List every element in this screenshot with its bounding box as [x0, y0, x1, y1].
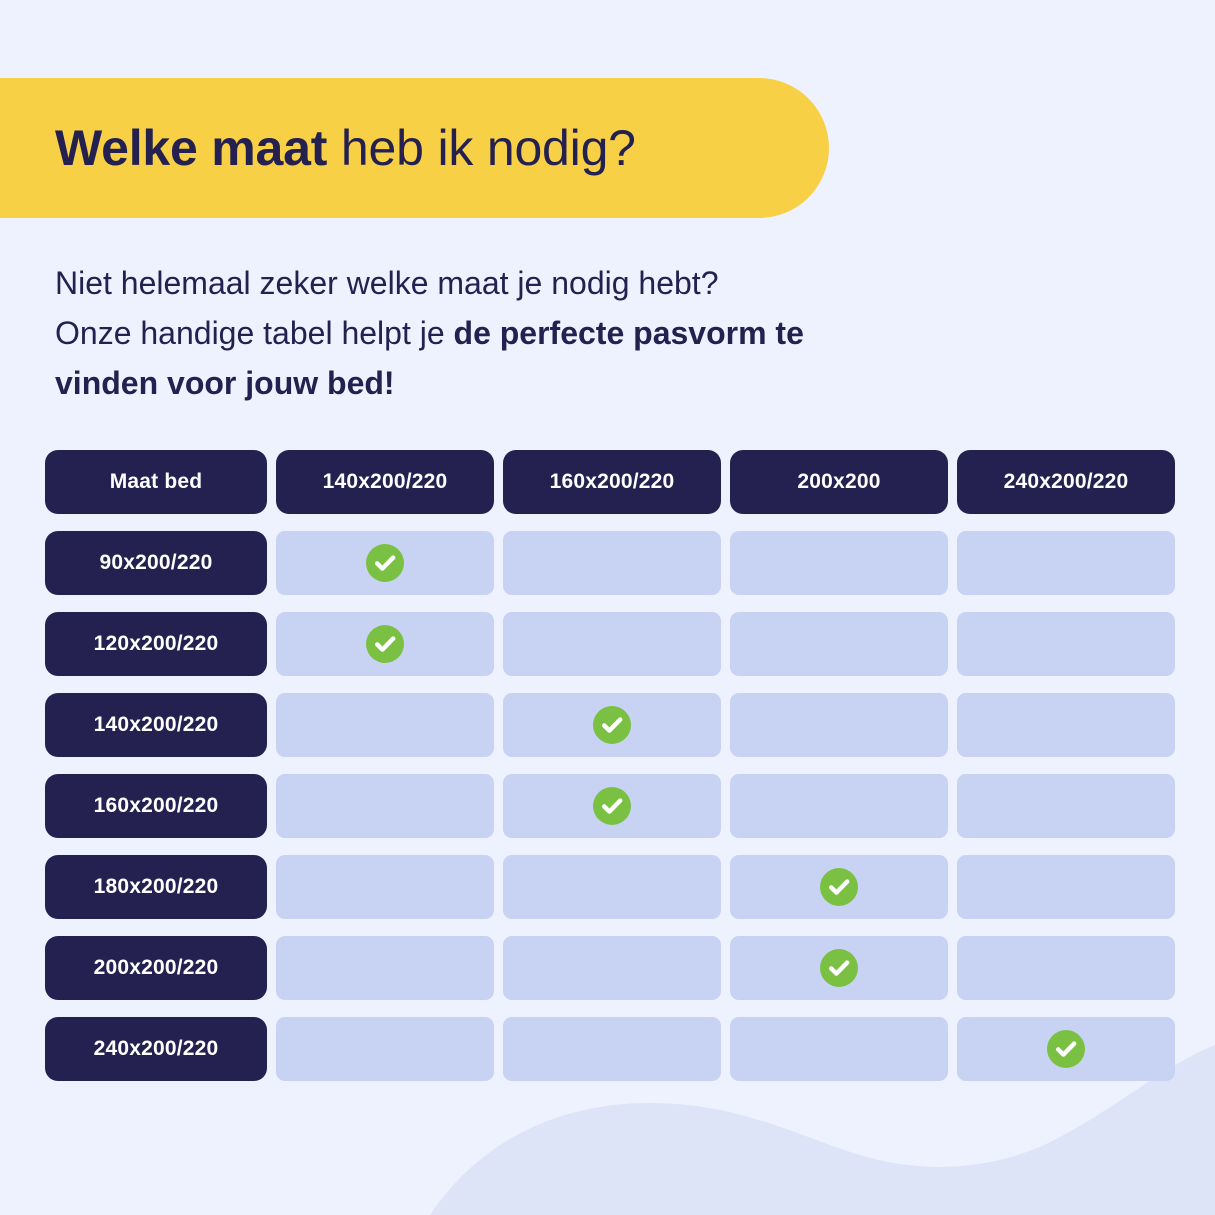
table-cell [957, 855, 1175, 919]
table-cell [957, 693, 1175, 757]
table-cell [276, 612, 494, 676]
intro-paragraph: Niet helemaal zeker welke maat je nodig … [55, 258, 1055, 408]
check-circle-icon [820, 868, 858, 906]
title-banner: Welke maat heb ik nodig? [0, 78, 829, 218]
table-row: 160x200/220 [45, 774, 1170, 838]
table-cell [730, 936, 948, 1000]
table-header-row: Maat bed 140x200/220 160x200/220 200x200… [45, 450, 1170, 514]
table-cell [957, 1017, 1175, 1081]
row-label: 160x200/220 [45, 774, 267, 838]
table-row: 90x200/220 [45, 531, 1170, 595]
intro-line-3: vinden voor jouw bed! [55, 358, 1055, 408]
table-cell [276, 936, 494, 1000]
intro-line-2-regular: Onze handige tabel helpt je [55, 315, 454, 351]
table-cell [503, 936, 721, 1000]
table-row: 120x200/220 [45, 612, 1170, 676]
column-header-160x200-220: 160x200/220 [503, 450, 721, 514]
row-label: 120x200/220 [45, 612, 267, 676]
table-row: 200x200/220 [45, 936, 1170, 1000]
table-cell [503, 693, 721, 757]
table-cell [730, 774, 948, 838]
column-header-maat-bed: Maat bed [45, 450, 267, 514]
table-cell [503, 1017, 721, 1081]
row-label: 200x200/220 [45, 936, 267, 1000]
table-cell [957, 531, 1175, 595]
column-header-140x200-220: 140x200/220 [276, 450, 494, 514]
table-cell [730, 693, 948, 757]
intro-line-2: Onze handige tabel helpt je de perfecte … [55, 308, 1055, 358]
check-circle-icon [593, 706, 631, 744]
check-circle-icon [593, 787, 631, 825]
table-cell [730, 531, 948, 595]
table-cell [276, 855, 494, 919]
table-cell [276, 531, 494, 595]
page-title-regular: heb ik nodig? [327, 120, 636, 176]
table-cell [957, 612, 1175, 676]
table-cell [503, 774, 721, 838]
page-title: Welke maat heb ik nodig? [0, 123, 636, 173]
table-cell [276, 774, 494, 838]
table-row: 240x200/220 [45, 1017, 1170, 1081]
row-label: 180x200/220 [45, 855, 267, 919]
column-header-200x200: 200x200 [730, 450, 948, 514]
size-comparison-table: Maat bed 140x200/220 160x200/220 200x200… [45, 450, 1170, 1081]
table-cell [957, 774, 1175, 838]
check-circle-icon [366, 544, 404, 582]
intro-line-1: Niet helemaal zeker welke maat je nodig … [55, 258, 1055, 308]
table-cell [503, 531, 721, 595]
table-cell [503, 612, 721, 676]
intro-line-2-bold: de perfecte pasvorm te [454, 315, 804, 351]
page-title-bold: Welke maat [55, 120, 327, 176]
row-label: 140x200/220 [45, 693, 267, 757]
row-label: 240x200/220 [45, 1017, 267, 1081]
table-cell [957, 936, 1175, 1000]
table-row: 140x200/220 [45, 693, 1170, 757]
table-cell [730, 1017, 948, 1081]
table-cell [503, 855, 721, 919]
table-row: 180x200/220 [45, 855, 1170, 919]
check-circle-icon [1047, 1030, 1085, 1068]
check-circle-icon [820, 949, 858, 987]
table-cell [276, 693, 494, 757]
table-cell [276, 1017, 494, 1081]
check-circle-icon [366, 625, 404, 663]
column-header-240x200-220: 240x200/220 [957, 450, 1175, 514]
table-cell [730, 855, 948, 919]
row-label: 90x200/220 [45, 531, 267, 595]
table-cell [730, 612, 948, 676]
